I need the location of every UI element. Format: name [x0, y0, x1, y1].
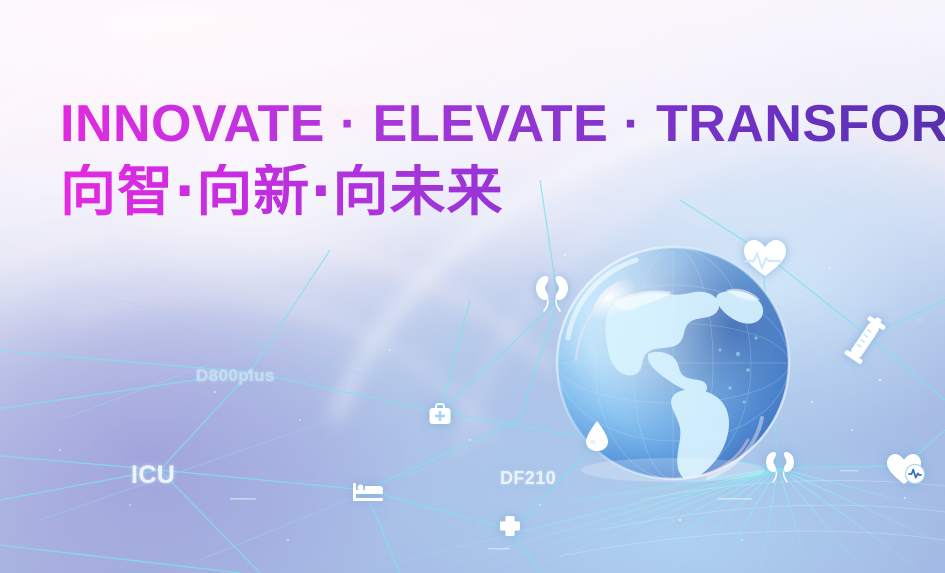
- heart-pulse-icon: [742, 238, 788, 278]
- hospital-bed-icon: [352, 480, 384, 502]
- headline-english: INNOVATE · ELEVATE · TRANSFORM: [60, 98, 945, 150]
- promo-banner: D800plus ICU DF210 INNOVATE · ELEVATE · …: [0, 0, 945, 573]
- mesh-label-icu: ICU: [131, 461, 175, 490]
- water-drop-icon: [584, 420, 610, 452]
- headline-chinese: 向智·向新·向未来: [60, 164, 945, 220]
- mesh-label-d800plus: D800plus: [196, 366, 275, 386]
- medical-cross-icon: [499, 515, 521, 537]
- heart-monitor-icon: [886, 452, 926, 486]
- medical-bag-icon: [428, 402, 452, 426]
- mesh-label-df210: DF210: [500, 468, 556, 489]
- kidneys-icon: [528, 272, 576, 314]
- headline-block: INNOVATE · ELEVATE · TRANSFORM 向智·向新·向未来: [60, 98, 945, 220]
- kidneys-icon-2: [760, 450, 800, 486]
